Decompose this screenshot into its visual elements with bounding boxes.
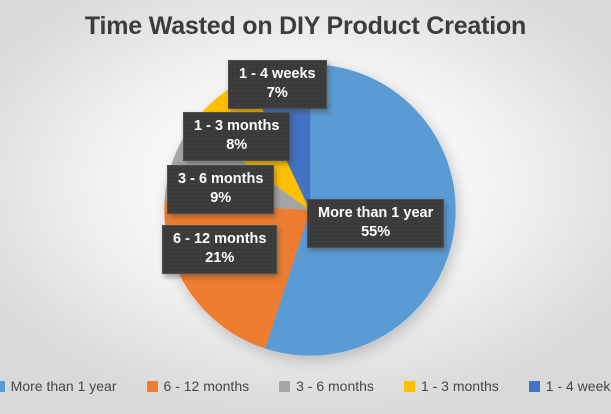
data-label-category: More than 1 year	[318, 205, 433, 221]
data-label-more-than-1-year: More than 1 year 55%	[307, 199, 444, 248]
legend-item[interactable]: More than 1 year	[0, 379, 117, 393]
legend-item-label: 6 - 12 months	[164, 379, 250, 393]
legend-swatch-icon	[529, 381, 540, 392]
data-label-1-4-weeks: 1 - 4 weeks 7%	[228, 60, 327, 109]
data-label-percent: 55%	[318, 223, 433, 242]
chart-legend: More than 1 year6 - 12 months3 - 6 month…	[14, 372, 597, 400]
data-label-percent: 21%	[173, 249, 266, 268]
legend-item[interactable]: 1 - 3 months	[404, 379, 499, 393]
data-label-percent: 9%	[178, 189, 263, 208]
legend-swatch-icon	[0, 381, 5, 392]
data-label-category: 1 - 4 weeks	[239, 66, 316, 82]
data-label-category: 3 - 6 months	[178, 171, 263, 187]
legend-item-label: 1 - 4 weeks	[546, 379, 611, 393]
data-label-category: 1 - 3 months	[194, 118, 279, 134]
data-label-6-12-months: 6 - 12 months 21%	[162, 225, 277, 274]
legend-item[interactable]: 3 - 6 months	[279, 379, 374, 393]
legend-item[interactable]: 6 - 12 months	[147, 379, 250, 393]
chart-title: Time Wasted on DIY Product Creation	[0, 12, 611, 41]
legend-swatch-icon	[279, 381, 290, 392]
pie-chart-container: Time Wasted on DIY Product Creation 1 - …	[0, 0, 611, 414]
data-label-percent: 7%	[239, 84, 316, 103]
legend-item-label: More than 1 year	[11, 379, 117, 393]
legend-item-label: 3 - 6 months	[296, 379, 374, 393]
data-label-1-3-months: 1 - 3 months 8%	[183, 112, 290, 161]
data-label-3-6-months: 3 - 6 months 9%	[167, 165, 274, 214]
legend-swatch-icon	[404, 381, 415, 392]
data-label-category: 6 - 12 months	[173, 231, 266, 247]
legend-swatch-icon	[147, 381, 158, 392]
legend-item[interactable]: 1 - 4 weeks	[529, 379, 611, 393]
legend-item-label: 1 - 3 months	[421, 379, 499, 393]
data-label-percent: 8%	[194, 136, 279, 155]
